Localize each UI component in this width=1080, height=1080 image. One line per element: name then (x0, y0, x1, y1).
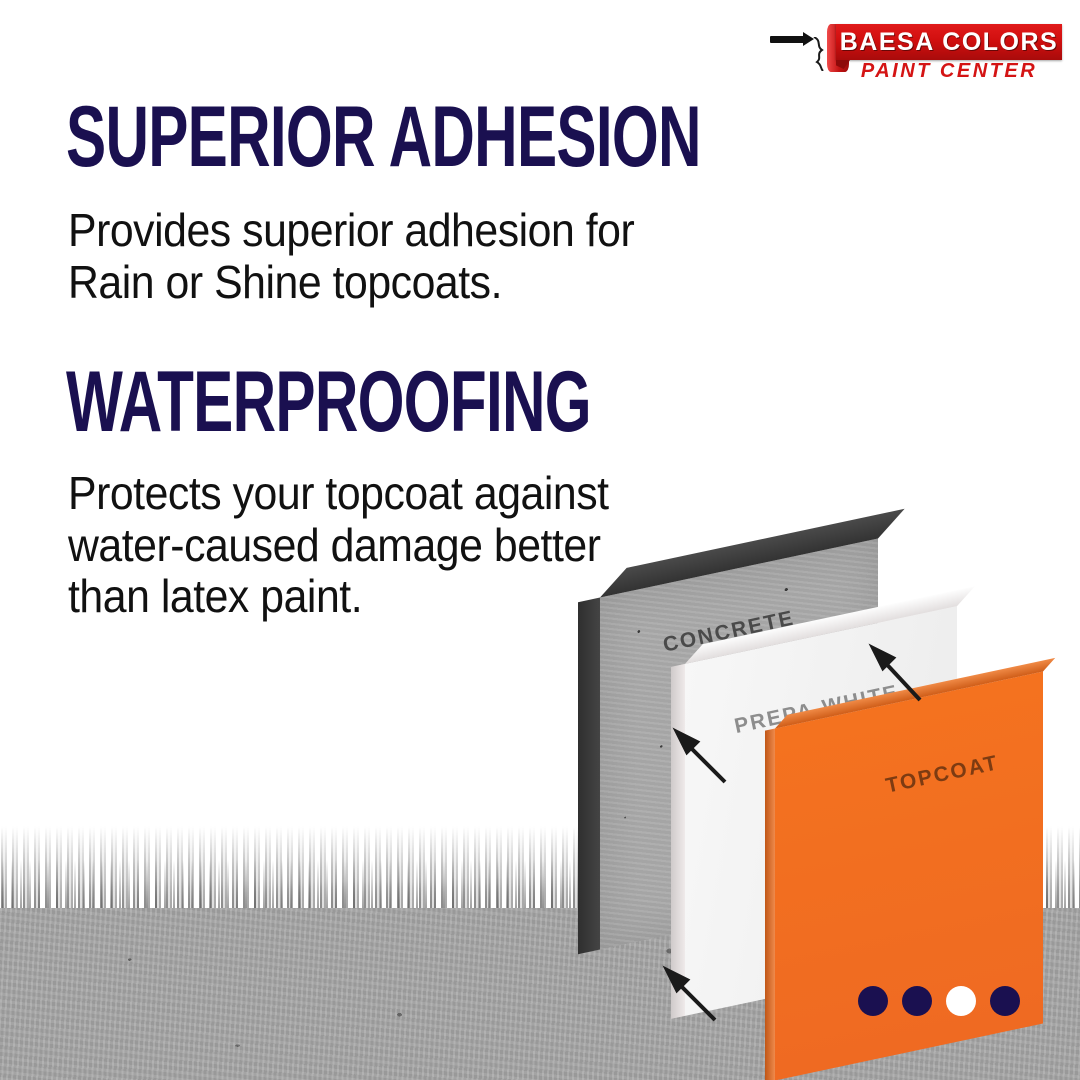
paint-roller-wire-icon (813, 37, 825, 71)
carousel-dot-3[interactable] (946, 986, 976, 1016)
logo-name: BAESA COLORS (836, 24, 1062, 60)
panel-side-face (765, 728, 775, 1080)
body-superior-adhesion: Provides superior adhesion for Rain or S… (68, 205, 634, 308)
paint-roller-handle-icon (770, 36, 806, 43)
brand-logo[interactable]: BAESA COLORS PAINT CENTER (770, 18, 1062, 80)
logo-tagline: PAINT CENTER (836, 60, 1062, 82)
carousel-indicator[interactable] (858, 986, 1020, 1016)
carousel-dot-4[interactable] (990, 986, 1020, 1016)
poster-canvas: BAESA COLORS PAINT CENTER SUPERIOR ADHES… (0, 0, 1080, 1080)
layer-panel-topcoat: TOPCOAT (775, 672, 1043, 1080)
panel-side-face (671, 664, 685, 1019)
logo-ribbon: BAESA COLORS (836, 24, 1062, 60)
carousel-dot-2[interactable] (902, 986, 932, 1016)
panel-side-face (578, 598, 600, 955)
headline-waterproofing: WATERPROOFING (66, 363, 591, 442)
body-waterproofing: Protects your topcoat against water-caus… (68, 468, 609, 623)
carousel-dot-1[interactable] (858, 986, 888, 1016)
headline-superior-adhesion: SUPERIOR ADHESION (66, 98, 701, 177)
panel-front-face (775, 672, 1043, 1080)
